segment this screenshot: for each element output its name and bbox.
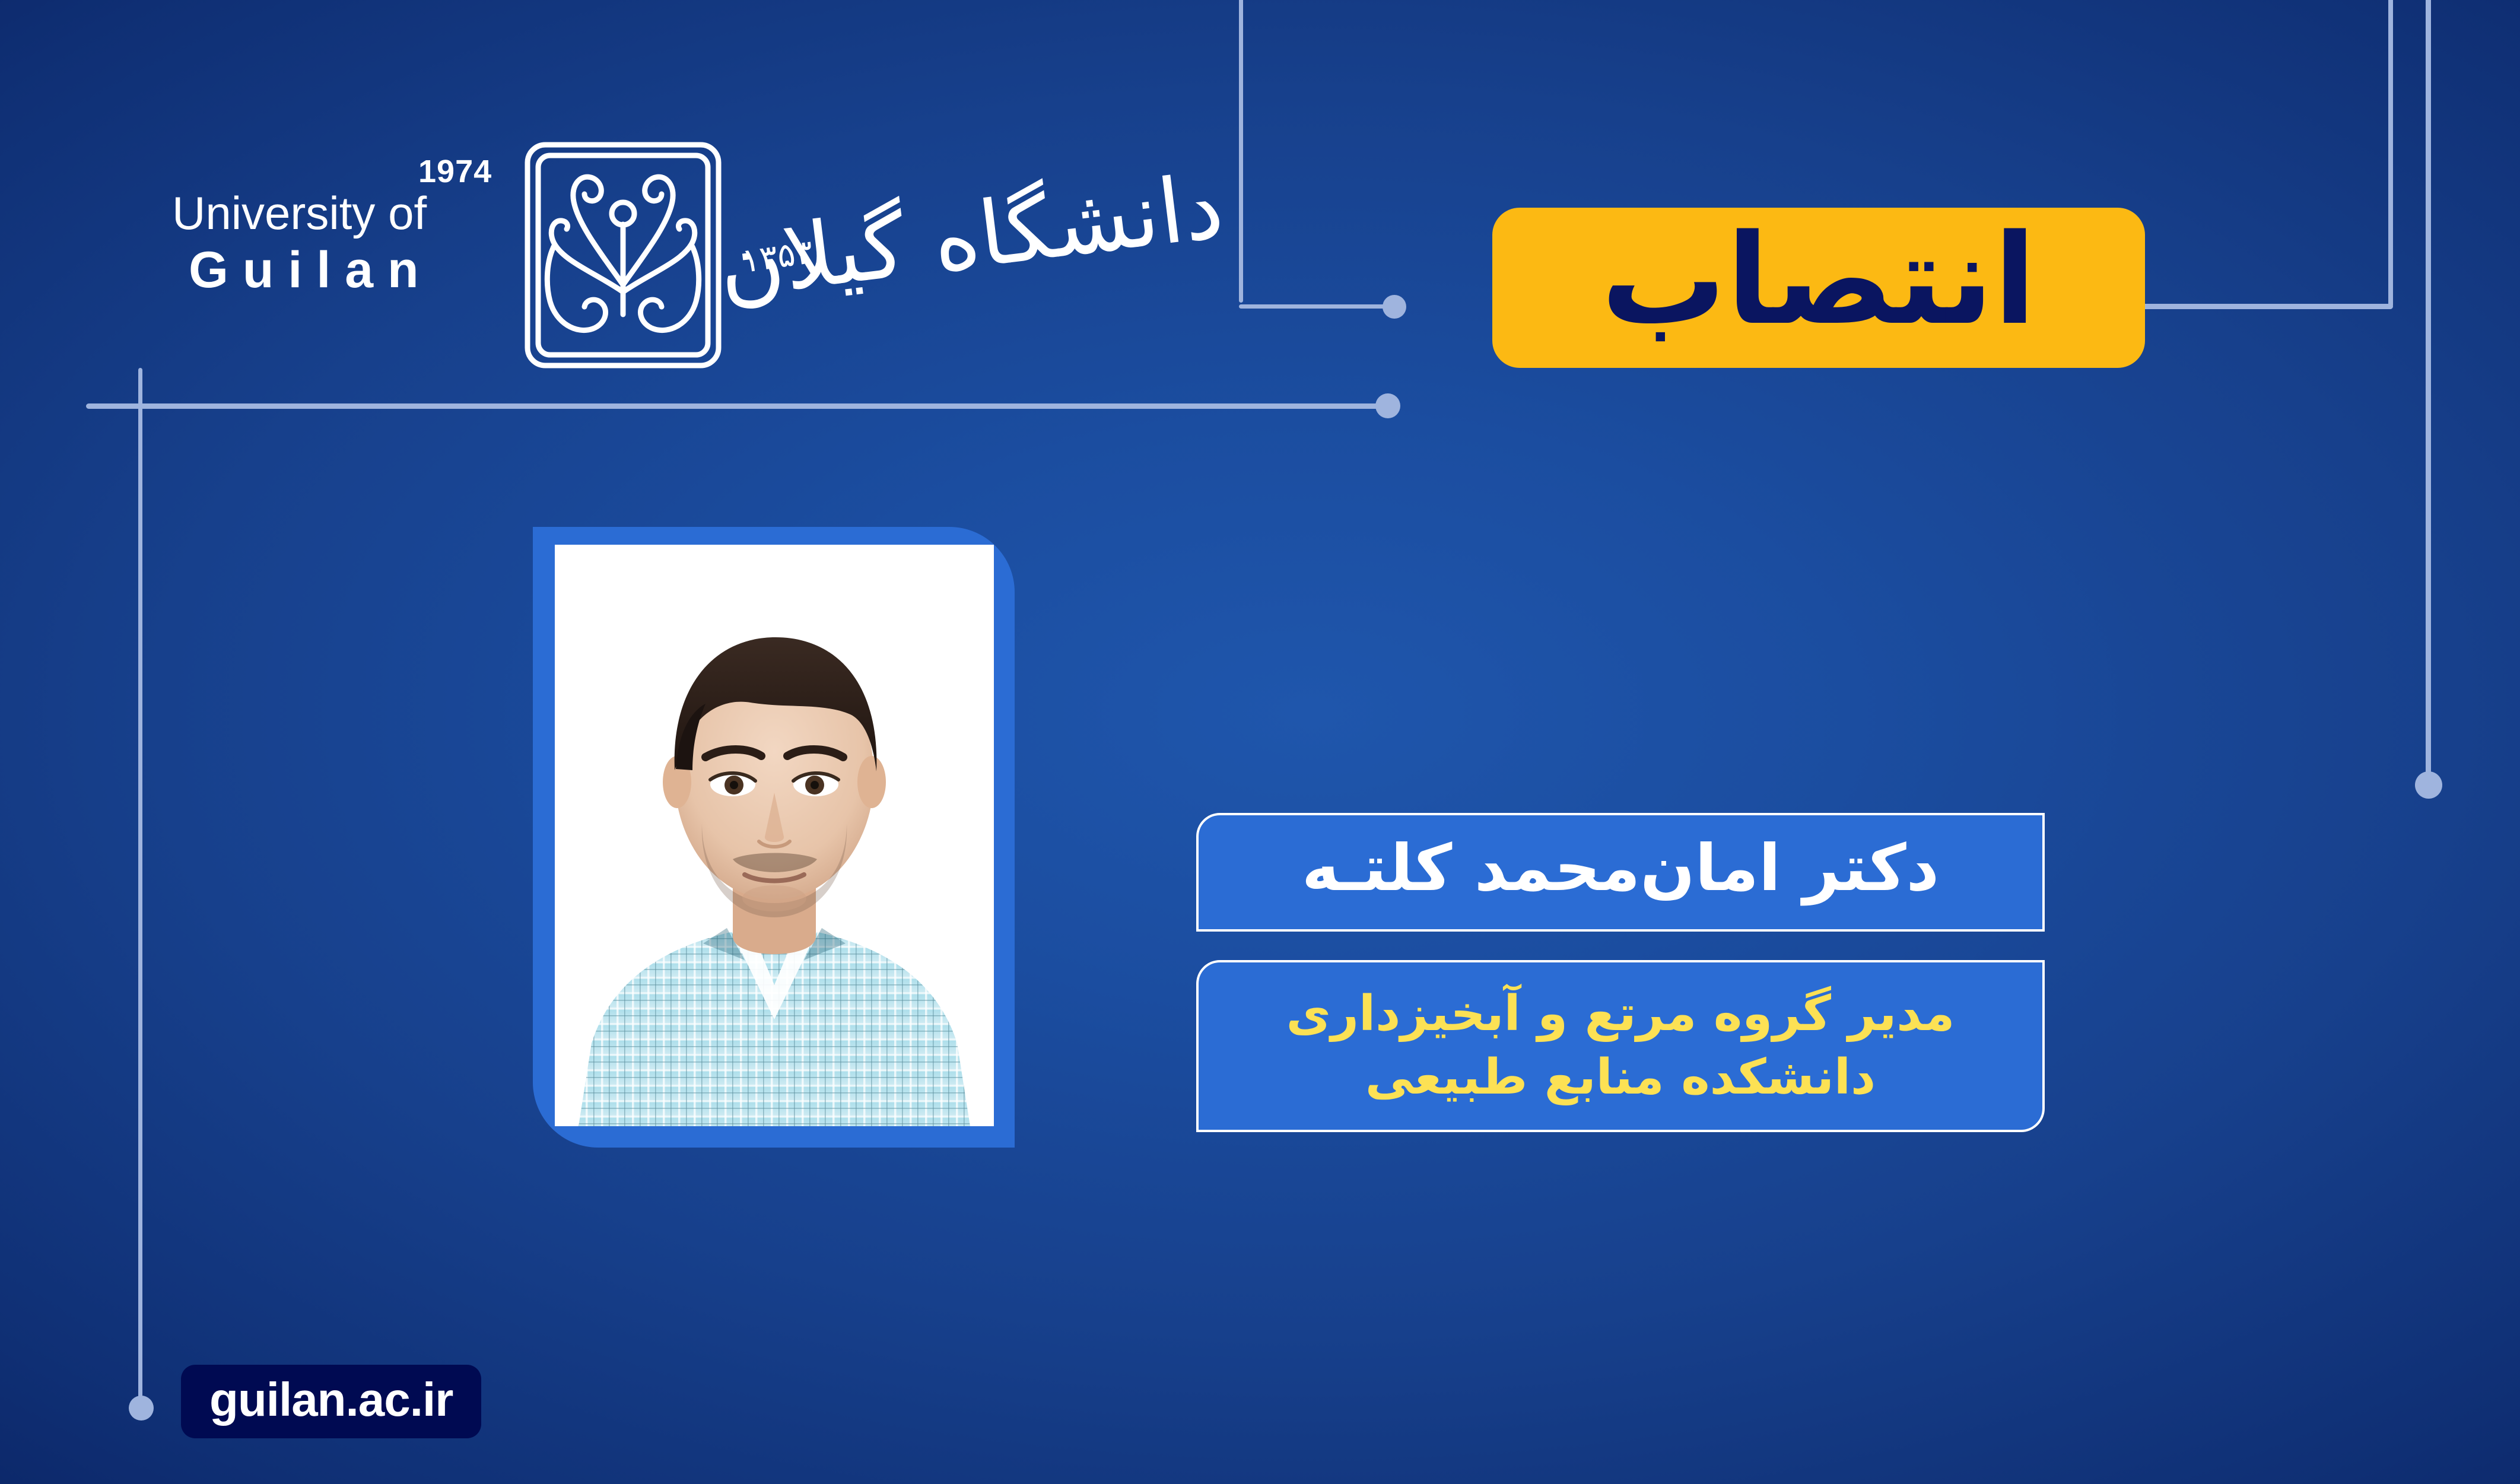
headline-label: انتصاب: [1601, 218, 2036, 342]
university-logo: 1974 University of Guilan: [148, 136, 1246, 386]
person-name-card: دکتر امان‌محمد کلتـه: [1196, 813, 2045, 932]
website-url-label: guilan.ac.ir: [209, 1376, 453, 1423]
decor-dot-top-center: [1383, 295, 1406, 319]
logo-university-of-label: University of: [172, 190, 433, 237]
guilan-university-emblem-icon: [519, 136, 727, 374]
poster-canvas: 1974 University of Guilan: [0, 0, 2520, 1484]
portrait-photo: [555, 545, 994, 1126]
decor-line-logo-underline: [86, 403, 1385, 409]
decor-line-left-vertical: [138, 368, 142, 1403]
person-title-line2: دانشکده منابع طبیعی: [1365, 1046, 1876, 1110]
decor-dot-logo-underline: [1375, 393, 1400, 418]
website-url-badge[interactable]: guilan.ac.ir: [181, 1365, 481, 1438]
person-name: دکتر امان‌محمد کلتـه: [1302, 837, 1939, 901]
logo-persian-text: دانشگاه گیلان ۱۳۵۳: [718, 142, 1228, 380]
logo-guilan-label: Guilan: [189, 244, 433, 297]
decor-line-right-vertical-upper: [2388, 0, 2393, 307]
person-title-line1: مدیر گروه مرتع و آبخیزداری: [1286, 983, 1955, 1046]
portrait-frame: [533, 527, 1015, 1148]
decor-line-right-vertical-long: [2426, 0, 2431, 783]
logo-english-text: University of Guilan: [172, 190, 433, 296]
decor-dot-left-bottom: [129, 1396, 154, 1421]
person-title-card: مدیر گروه مرتع و آبخیزداری دانشکده منابع…: [1196, 960, 2045, 1132]
headline-badge: انتصاب: [1492, 208, 2145, 368]
decor-line-top-center-horizontal: [1239, 304, 1390, 309]
logo-year-english: 1974: [418, 153, 492, 190]
decor-dot-right-bottom: [2415, 771, 2442, 799]
